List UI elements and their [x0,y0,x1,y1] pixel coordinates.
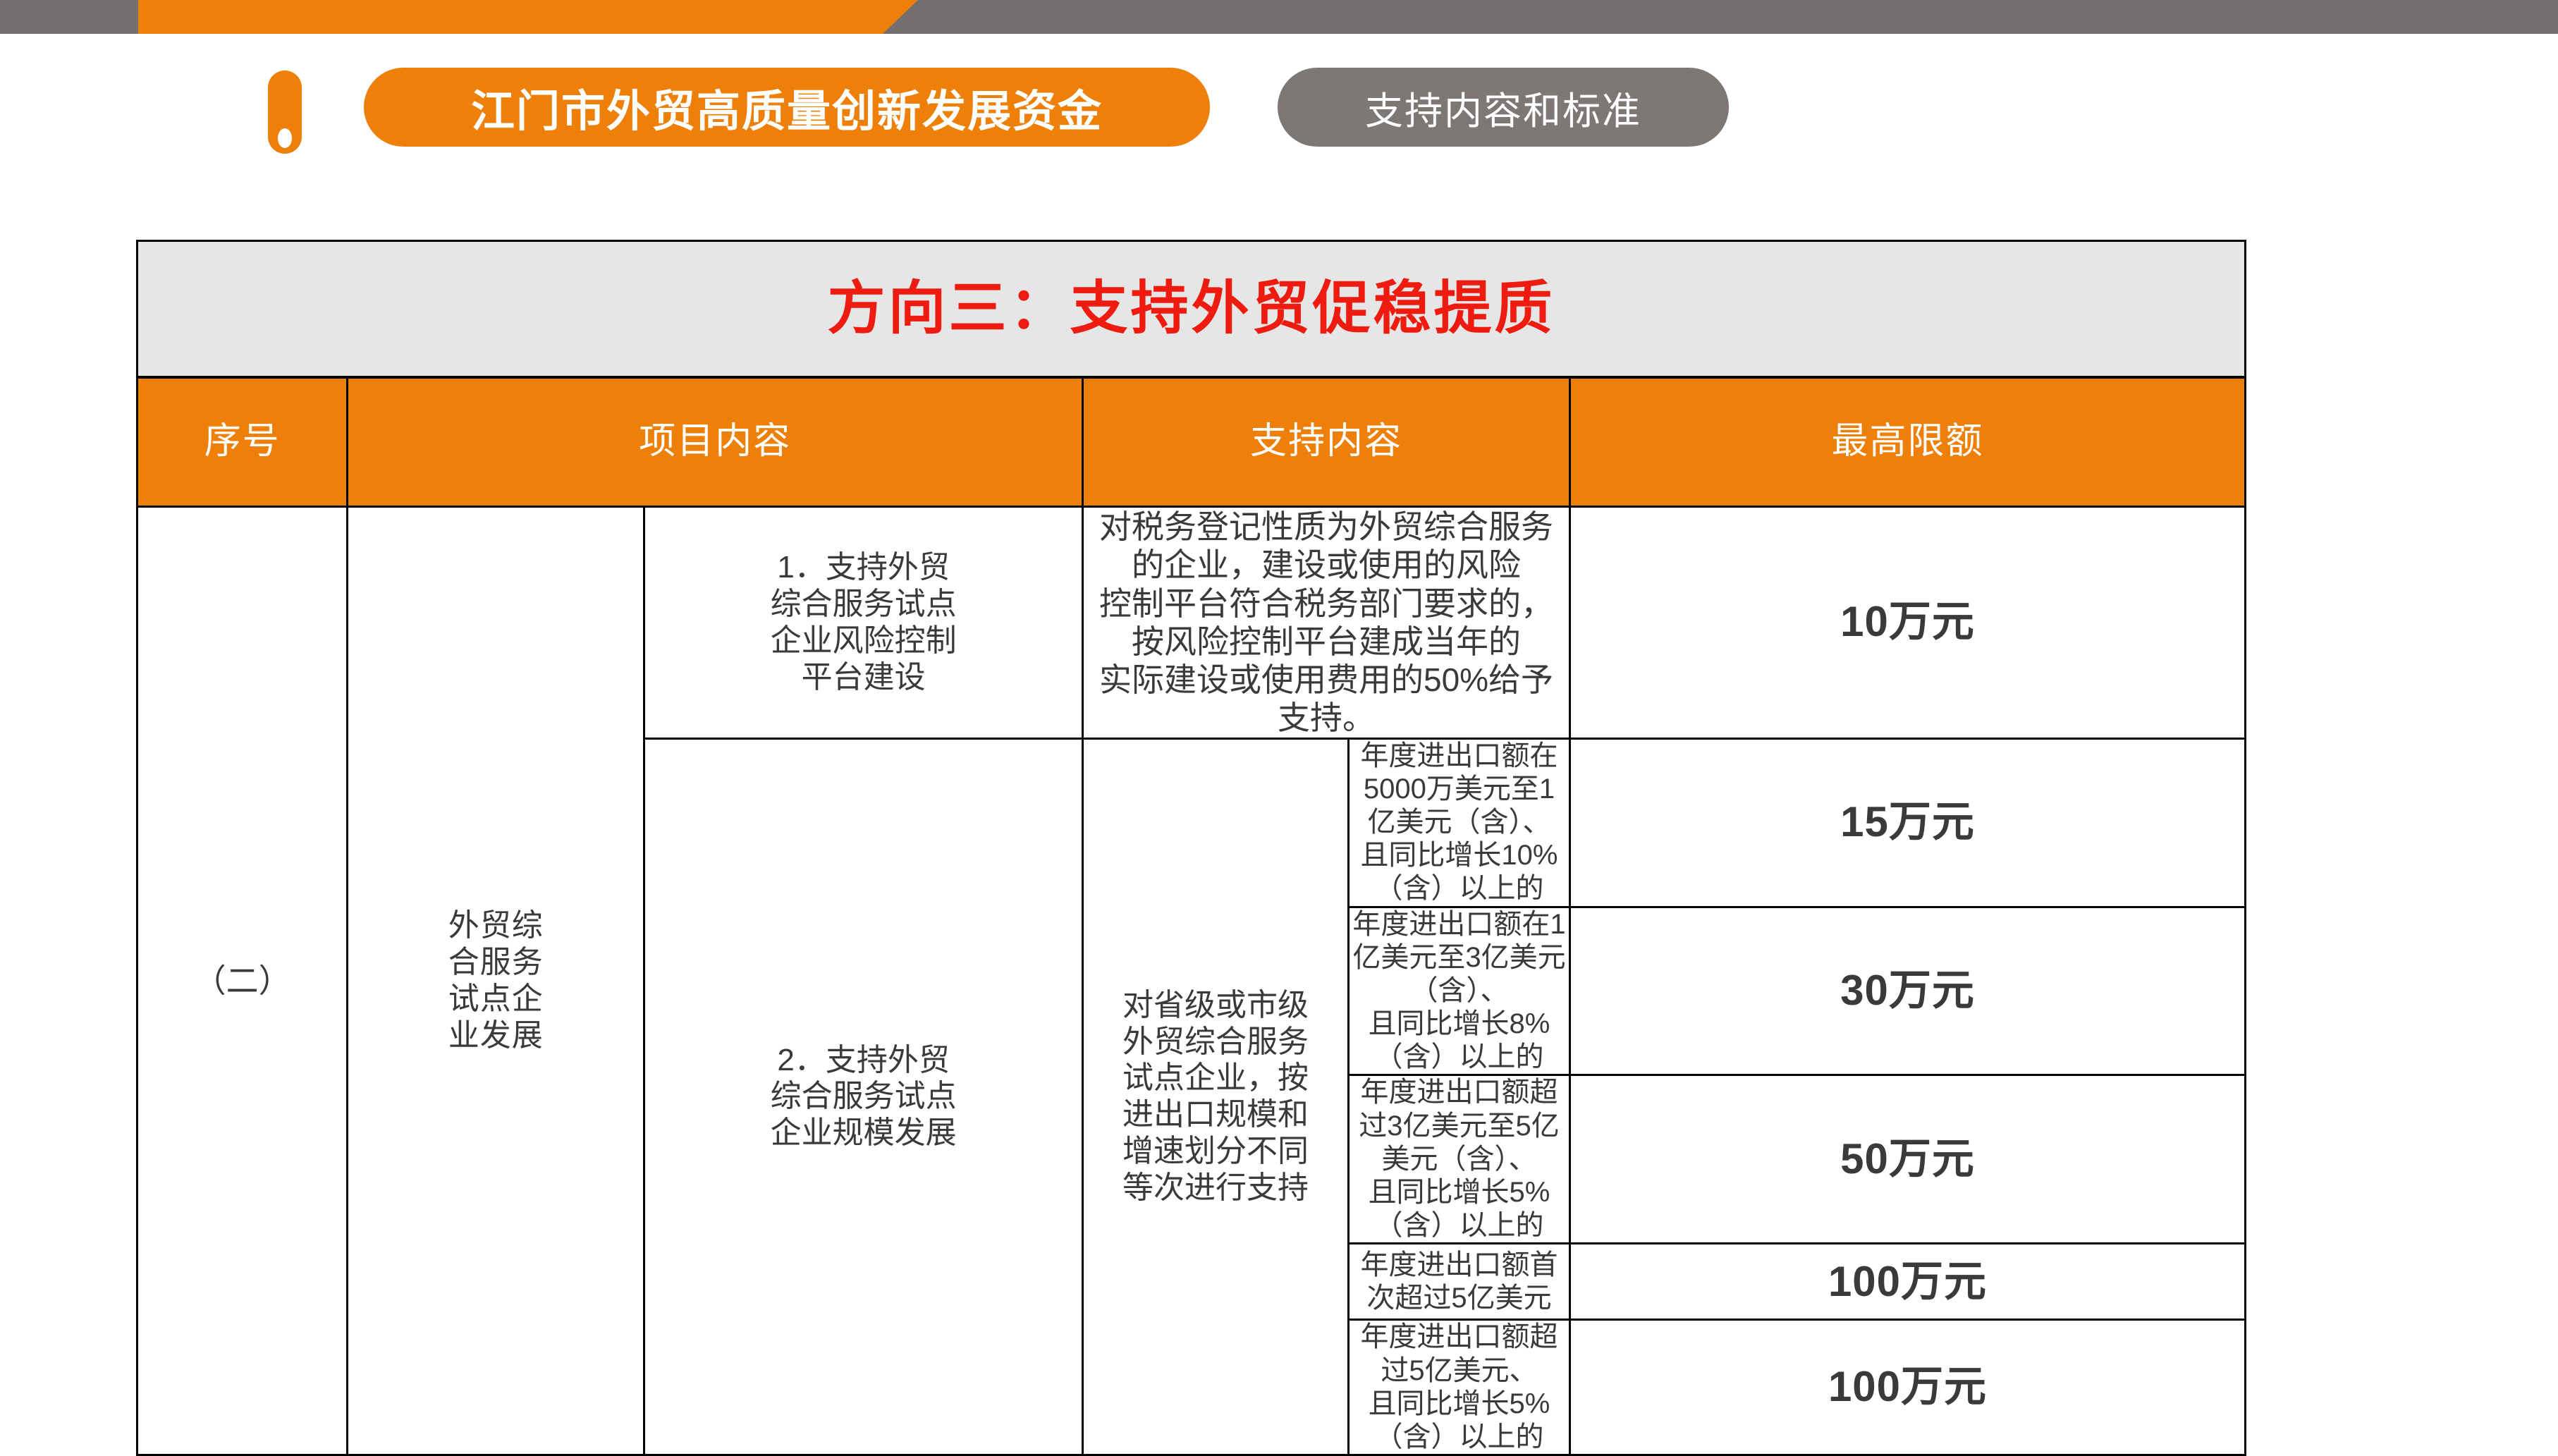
top-decorative-band [0,0,2558,34]
support-standards-table: 方向三：支持外贸促稳提质 序号 项目内容 支持内容 最高限额 （二） 外贸综 合… [136,240,2246,1456]
tier-condition-cell: 年度进出口额在5000万美元至1亿美元（含）、 且同比增长10%（含）以上的 [1348,738,1569,907]
tier-limit-cell: 15万元 [1570,738,2246,907]
section-title-pill: 支持内容和标准 [1278,68,1729,147]
sub-project-cell-2: 2．支持外贸 综合服务试点 企业规模发展 [644,738,1083,1455]
table-title: 方向三：支持外贸促稳提质 [137,241,2246,378]
column-header-limit: 最高限额 [1570,377,2246,507]
tier-condition-cell: 年度进出口额在1亿美元至3亿美元（含）、 且同比增长8%（含）以上的 [1348,907,1569,1075]
limit-cell-1: 10万元 [1570,507,2246,739]
tier-condition-cell: 年度进出口额首次超过5亿美元 [1348,1244,1569,1320]
group-no-cell: （二） [137,507,348,1455]
exclamation-mark-icon [268,71,302,154]
column-header-project: 项目内容 [348,377,1083,507]
tier-condition-cell: 年度进出口额超过3亿美元至5亿美元（含）、 且同比增长5%（含）以上的 [1348,1075,1569,1244]
section-title-label: 支持内容和标准 [1365,80,1641,135]
column-header-no: 序号 [137,377,348,507]
tier-limit-cell: 30万元 [1570,907,2246,1075]
table-row: （二） 外贸综 合服务 试点企 业发展 1．支持外贸 综合服务试点 企业风险控制… [137,507,2246,739]
support-content-cell-1: 对税务登记性质为外贸综合服务的企业，建设或使用的风险 控制平台符合税务部门要求的… [1083,507,1570,739]
top-band-orange-shape [138,0,883,34]
table-title-row: 方向三：支持外贸促稳提质 [137,241,2246,378]
fund-title-pill: 江门市外贸高质量创新发展资金 [364,68,1210,147]
sub-project-cell-1: 1．支持外贸 综合服务试点 企业风险控制 平台建设 [644,507,1083,739]
fund-title-label: 江门市外贸高质量创新发展资金 [471,75,1103,139]
tier-limit-cell: 100万元 [1570,1320,2246,1455]
tier-condition-cell: 年度进出口额超过5亿美元、 且同比增长5%（含）以上的 [1348,1320,1569,1455]
slide-header: 江门市外贸高质量创新发展资金 支持内容和标准 [0,55,2558,154]
tier-limit-cell: 50万元 [1570,1075,2246,1244]
table-header-row: 序号 项目内容 支持内容 最高限额 [137,377,2246,507]
tier-limit-cell: 100万元 [1570,1244,2246,1320]
group-project-cell: 外贸综 合服务 试点企 业发展 [348,507,644,1455]
column-header-support: 支持内容 [1083,377,1570,507]
support-criteria-cell-2: 对省级或市级 外贸综合服务 试点企业，按 进出口规模和 增速划分不同 等次进行支… [1083,738,1349,1455]
